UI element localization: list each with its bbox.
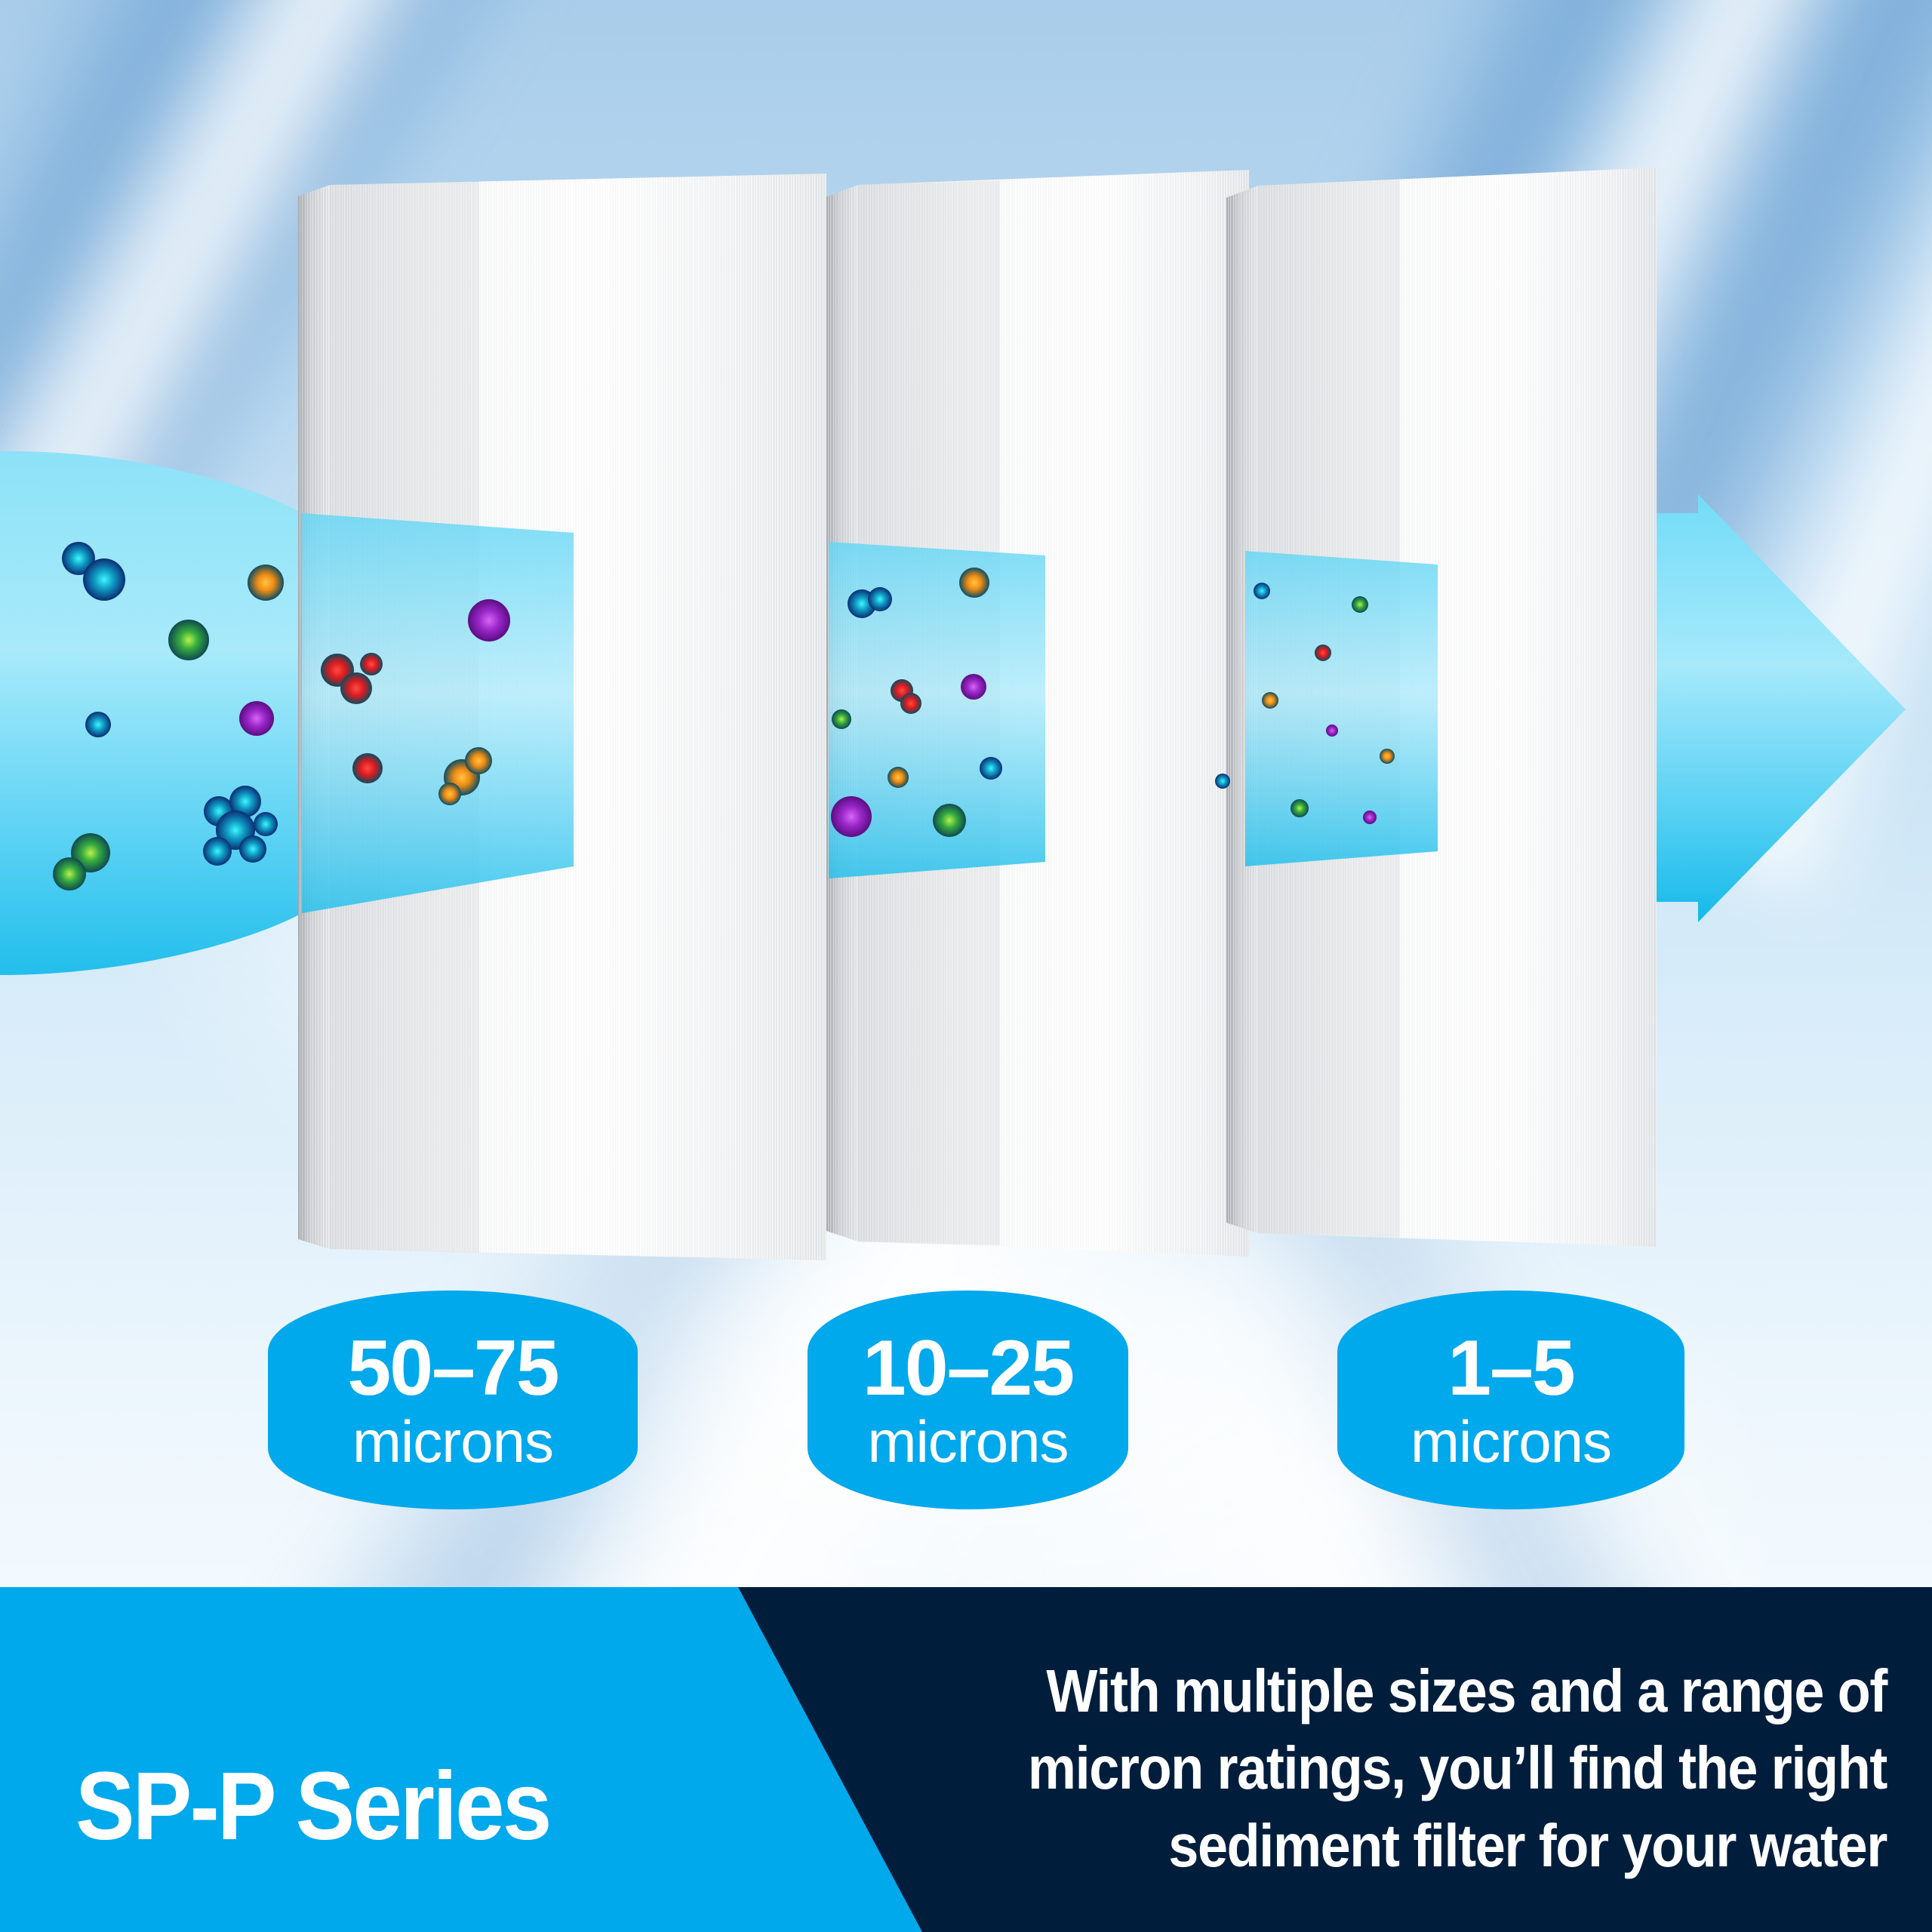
particle-cyan bbox=[254, 812, 278, 836]
particle-orange bbox=[1380, 749, 1395, 764]
particle-orange bbox=[465, 747, 492, 774]
particle-purple bbox=[239, 701, 274, 736]
banner-tagline: With multiple sizes and a range of micro… bbox=[990, 1653, 1887, 1884]
particle-red bbox=[1315, 645, 1331, 661]
particle-orange bbox=[1262, 692, 1278, 709]
particle-orange bbox=[888, 767, 909, 788]
particle-cyan bbox=[239, 835, 266, 863]
particle-purple bbox=[1363, 811, 1377, 824]
particle-orange bbox=[959, 568, 989, 598]
particle-cyan bbox=[1254, 583, 1270, 599]
particle-green bbox=[832, 709, 851, 729]
particle-green bbox=[933, 804, 966, 837]
particle-red bbox=[360, 653, 383, 675]
tagline-line-2: micron ratings, you’ll find the right bbox=[990, 1730, 1887, 1807]
particle-red bbox=[900, 693, 921, 714]
particle-purple bbox=[468, 599, 510, 641]
particle-cyan bbox=[980, 757, 1002, 780]
micron-range-label: 50–75 bbox=[347, 1329, 558, 1407]
particle-cyan bbox=[203, 837, 232, 866]
particle-purple bbox=[961, 674, 986, 700]
micron-unit-label: microns bbox=[1411, 1412, 1611, 1471]
micron-badge-10-25[interactable]: 10–25 microns bbox=[808, 1291, 1128, 1509]
particle-red bbox=[340, 672, 372, 704]
particle-green bbox=[1352, 596, 1368, 613]
particle-purple bbox=[1326, 724, 1338, 737]
particle-cyan bbox=[83, 558, 125, 601]
particle-group-stage2 bbox=[831, 568, 1002, 837]
particle-cyan bbox=[1215, 774, 1230, 789]
particle-group-stage1 bbox=[321, 599, 510, 805]
particle-orange bbox=[248, 565, 284, 601]
micron-range-label: 10–25 bbox=[863, 1329, 1073, 1407]
micron-badge-row: 50–75 microns 10–25 microns 1–5 microns bbox=[0, 1283, 1932, 1509]
micron-badge-1-5[interactable]: 1–5 microns bbox=[1337, 1291, 1684, 1509]
particle-green bbox=[168, 620, 209, 660]
micron-badge-50-75[interactable]: 50–75 microns bbox=[268, 1291, 638, 1509]
tagline-line-3: sediment filter for your water bbox=[990, 1807, 1887, 1884]
micron-range-label: 1–5 bbox=[1447, 1329, 1574, 1407]
particle-purple bbox=[831, 796, 872, 837]
particle-green bbox=[1291, 799, 1309, 817]
particle-group-inlet bbox=[53, 542, 284, 891]
infographic-canvas: 50–75 microns 10–25 microns 1–5 microns … bbox=[0, 0, 1932, 1932]
particle-group-stage3 bbox=[1215, 583, 1395, 824]
particle-green bbox=[53, 857, 86, 891]
tagline-line-1: With multiple sizes and a range of bbox=[990, 1653, 1887, 1730]
micron-unit-label: microns bbox=[867, 1412, 1068, 1471]
particle-red bbox=[352, 753, 383, 783]
series-title: SP-P Series bbox=[75, 1751, 550, 1862]
particle-orange bbox=[438, 783, 461, 805]
micron-unit-label: microns bbox=[352, 1412, 553, 1471]
particle-cyan bbox=[85, 712, 111, 737]
particle-cyan bbox=[868, 587, 892, 611]
